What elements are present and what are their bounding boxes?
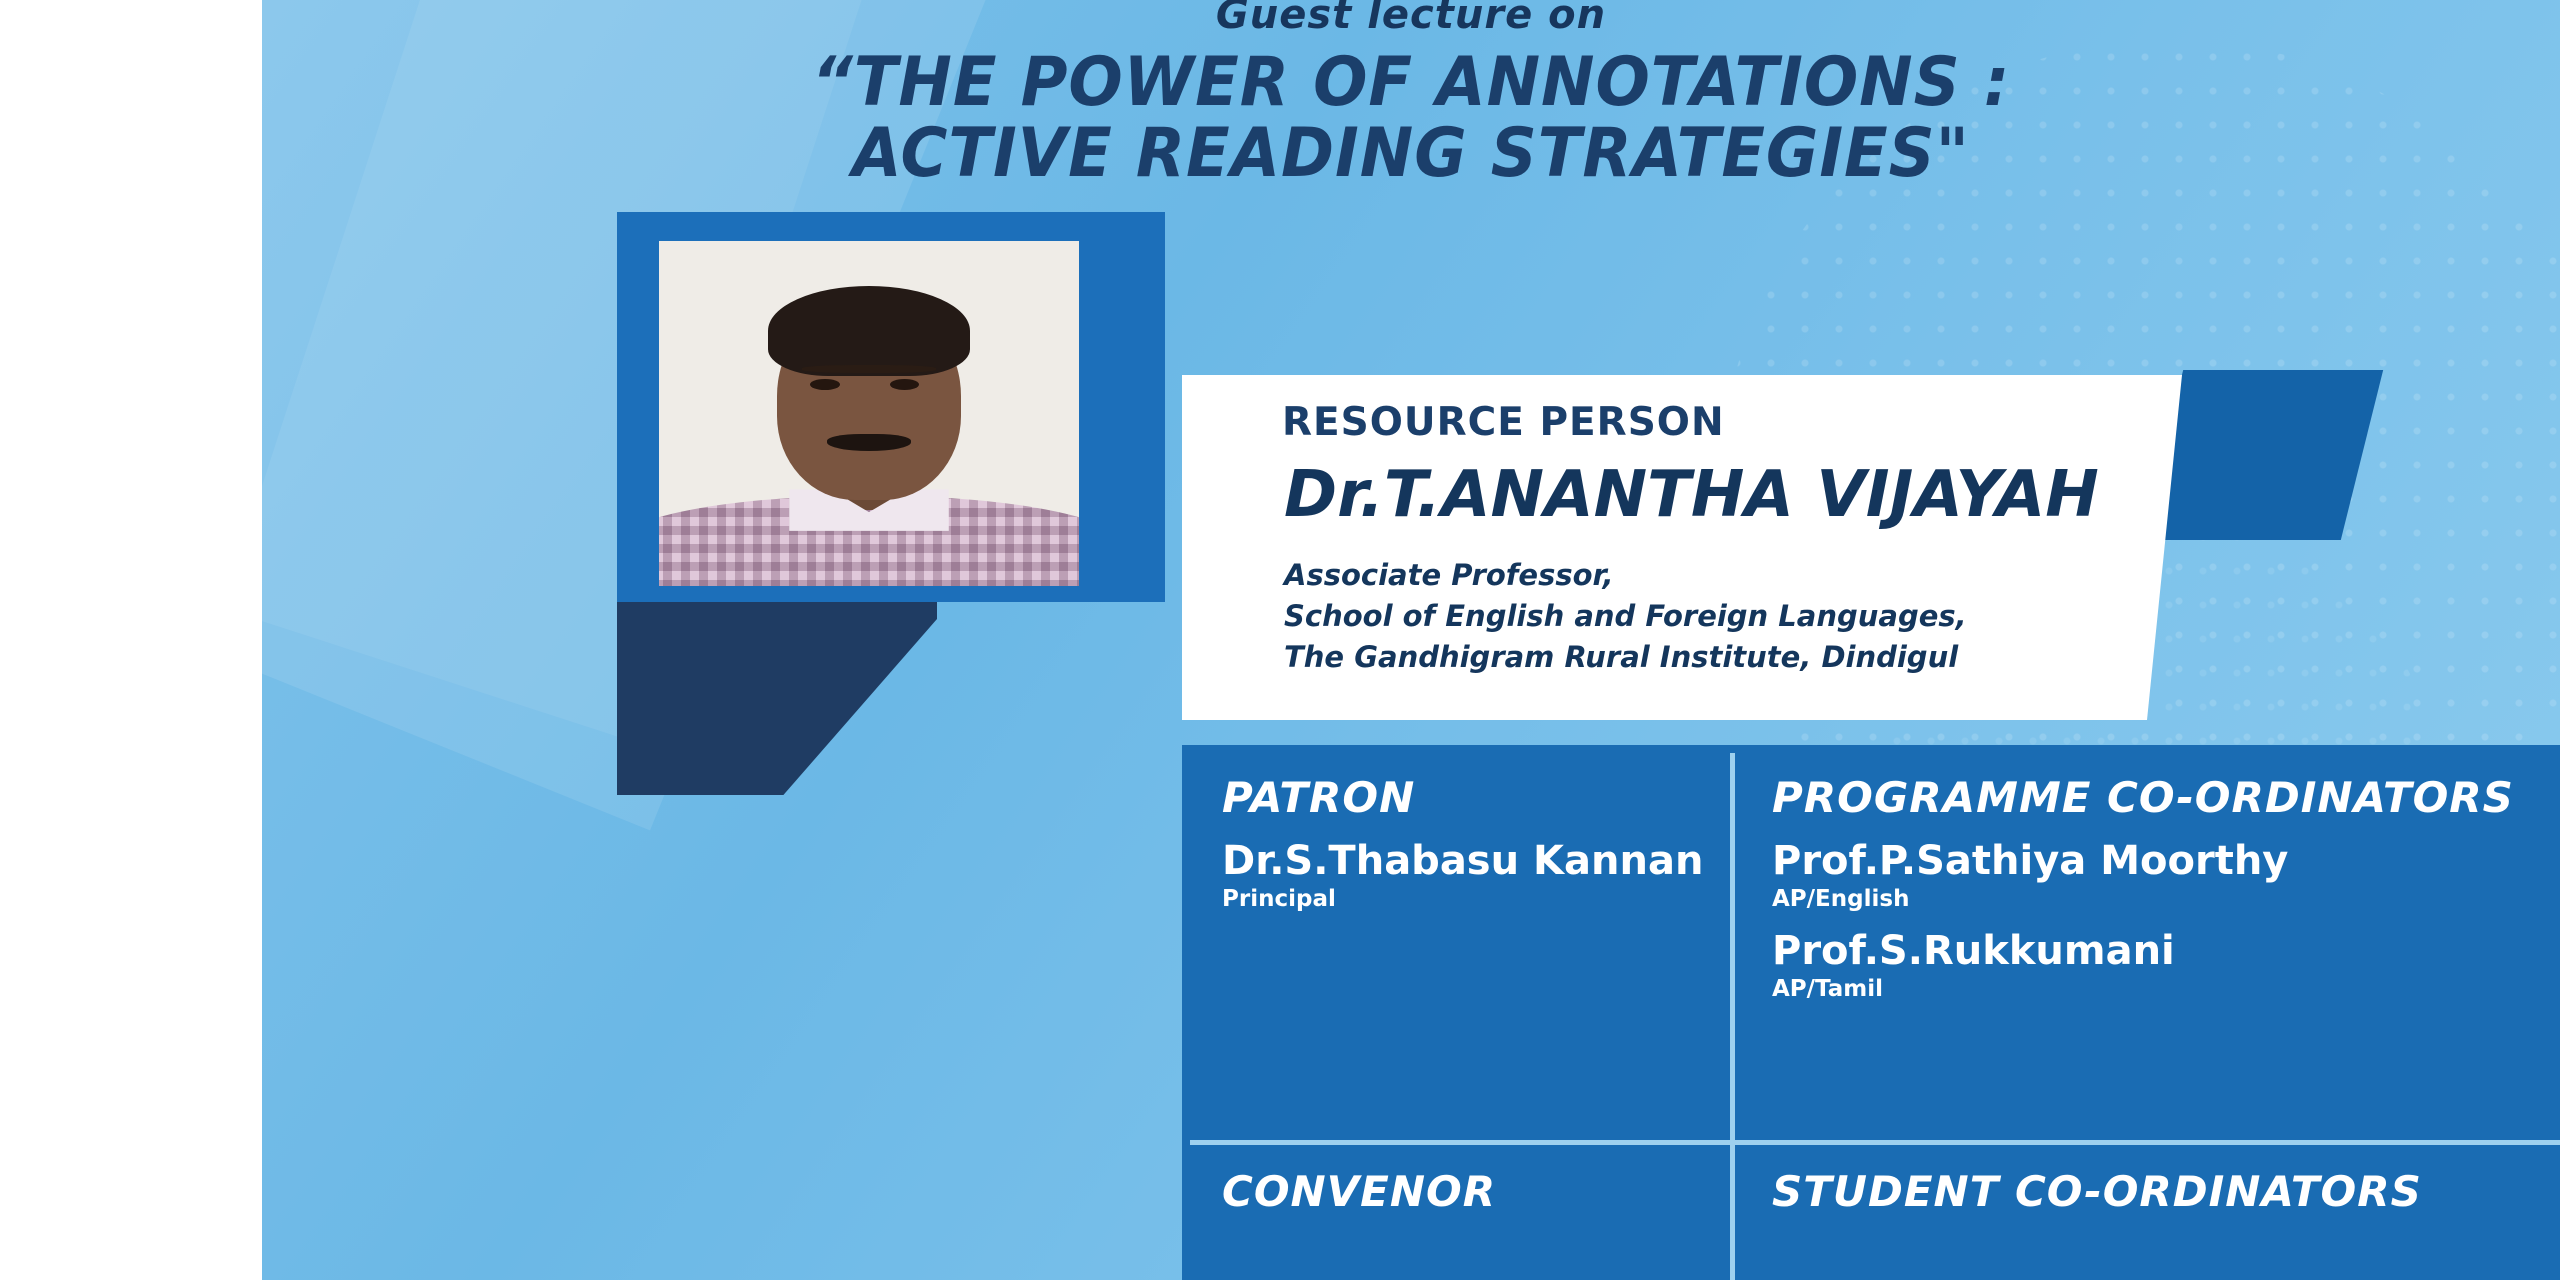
patron-person: Dr.S.Thabasu Kannan Principal [1222, 838, 1703, 912]
affiliation-line-1: Associate Professor, [1284, 555, 1967, 596]
grid-cell-patron: PATRON Dr.S.Thabasu Kannan Principal [1222, 773, 1703, 922]
coordinator-2-name: Prof.S.Rukkumani [1772, 928, 2514, 974]
patron-name: Dr.S.Thabasu Kannan [1222, 838, 1703, 884]
coordinator-1-name: Prof.P.Sathiya Moorthy [1772, 838, 2514, 884]
resource-person-label: RESOURCE PERSON [1282, 400, 1725, 445]
grid-cell-programme-coordinators: PROGRAMME CO-ORDINATORS Prof.P.Sathiya M… [1772, 773, 2514, 1012]
coordinator-person-2: Prof.S.Rukkumani AP/Tamil [1772, 928, 2514, 1002]
grid-cell-convenor: CONVENOR [1222, 1167, 1496, 1216]
grid-cell-student-coordinators: STUDENT CO-ORDINATORS [1772, 1167, 2422, 1216]
student-coordinators-heading: STUDENT CO-ORDINATORS [1772, 1167, 2422, 1216]
event-kicker: Guest lecture on [262, 0, 2560, 38]
page-title-line-2: ACTIVE READING STRATEGIES" [331, 119, 2491, 190]
grid-horizontal-divider [1190, 1140, 2560, 1145]
resource-person-name: Dr.T.ANANTHA VIJAYAH [1284, 458, 2099, 532]
coordinator-person-1: Prof.P.Sathiya Moorthy AP/English [1772, 838, 2514, 912]
coordinator-1-role: AP/English [1772, 886, 2514, 912]
poster-canvas: Guest lecture on “THE POWER OF ANNOTATIO… [262, 0, 2560, 1280]
avatar [659, 241, 1079, 586]
poster: Guest lecture on “THE POWER OF ANNOTATIO… [0, 0, 2560, 1280]
coordinator-2-role: AP/Tamil [1772, 976, 2514, 1002]
convenor-heading: CONVENOR [1222, 1167, 1496, 1216]
affiliation-line-3: The Gandhigram Rural Institute, Dindigul [1284, 637, 1967, 678]
grid-vertical-divider [1730, 753, 1735, 1280]
photo-frame [617, 212, 1165, 602]
patron-role: Principal [1222, 886, 1703, 912]
affiliation-line-2: School of English and Foreign Languages, [1284, 596, 1967, 637]
photo-shadow-shape [617, 595, 937, 795]
credits-grid: PATRON Dr.S.Thabasu Kannan Principal PRO… [1182, 745, 2560, 1280]
coordinators-heading: PROGRAMME CO-ORDINATORS [1772, 773, 2514, 822]
page-title: “THE POWER OF ANNOTATIONS : ACTIVE READI… [331, 48, 2491, 189]
resource-person-affiliation: Associate Professor, School of English a… [1284, 555, 1967, 679]
page-title-line-1: “THE POWER OF ANNOTATIONS : [812, 43, 2011, 122]
patron-heading: PATRON [1222, 773, 1703, 822]
